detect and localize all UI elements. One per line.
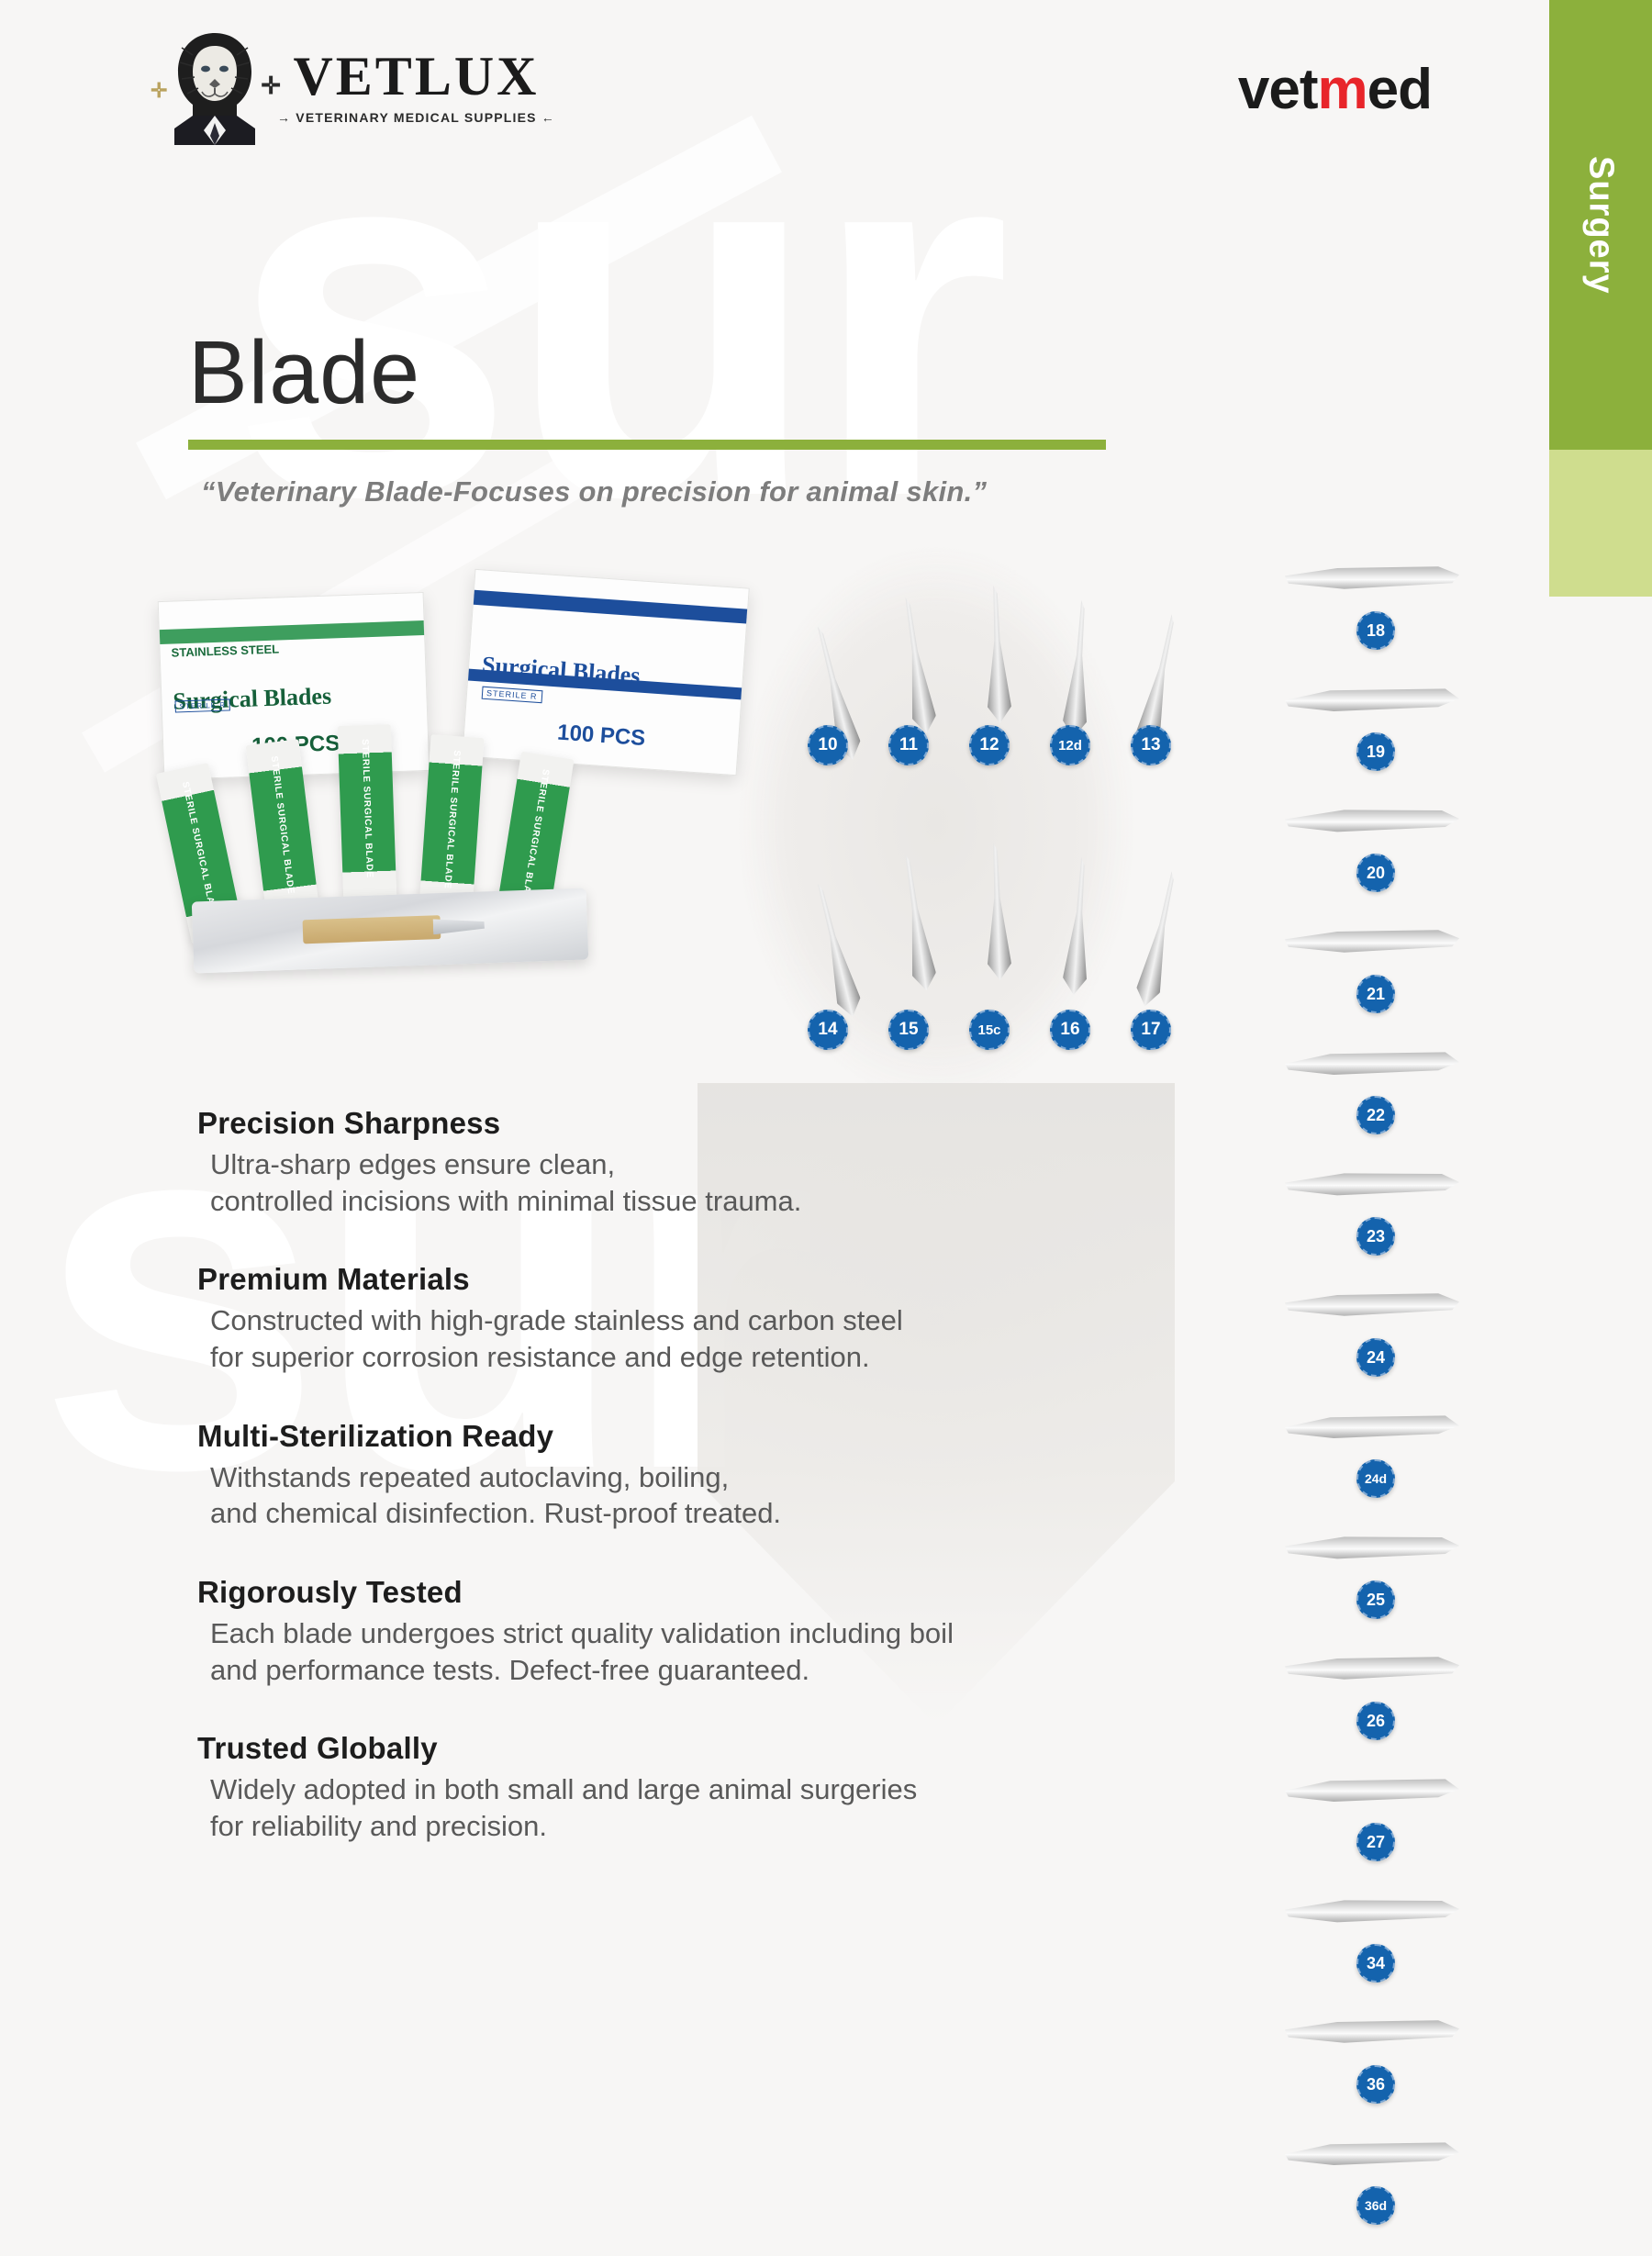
page-header: ✛ ✛: [0, 0, 1551, 193]
feature-line: for superior corrosion resistance and ed…: [210, 1339, 1280, 1376]
side-tab-label: Surgery: [1581, 156, 1621, 295]
blade-size-row: 34: [1285, 1893, 1487, 2014]
blade-size-row: 27: [1285, 1771, 1487, 1893]
page-title: Blade: [188, 326, 1106, 419]
vetmed-part-3: ed: [1367, 58, 1432, 121]
sachet-label: STERILE SURGICAL BLADE: [269, 755, 296, 895]
blade-illustration: [1285, 2019, 1459, 2047]
blade-size-badge-12[interactable]: 12: [969, 725, 1010, 765]
blade-illustration: [1285, 1535, 1459, 1562]
blade-size-badge-26[interactable]: 26: [1356, 1702, 1395, 1740]
blade-size-badge-20[interactable]: 20: [1356, 854, 1395, 892]
blade-grid: 10111212d13 141515c1617: [808, 569, 1267, 1083]
blade-size-badge-27[interactable]: 27: [1356, 1823, 1395, 1861]
sachet-label: STERILE SURGICAL BLADE: [360, 739, 374, 878]
blade-size-badge-13[interactable]: 13: [1131, 725, 1171, 765]
blade-size-badge-11[interactable]: 11: [888, 725, 929, 765]
vetmed-part-1: vet: [1238, 58, 1318, 121]
vetmed-part-2: m: [1318, 58, 1367, 121]
blade-size-badge-24d[interactable]: 24d: [1356, 1459, 1395, 1498]
feature-heading: Rigorously Tested: [197, 1575, 1280, 1610]
blade-size-row: 36d: [1285, 2135, 1487, 2256]
feature-item: Multi-Sterilization ReadyWithstands repe…: [197, 1419, 1280, 1532]
feature-line: Ultra-sharp edges ensure clean,: [210, 1146, 1280, 1183]
blade-illustration: [1285, 1777, 1459, 1804]
blade-illustration: [1285, 1413, 1459, 1441]
feature-item: Rigorously TestedEach blade undergoes st…: [197, 1575, 1280, 1688]
sachet-label: STERILE SURGICAL BLADE: [441, 750, 462, 889]
feature-line: for reliability and precision.: [210, 1808, 1280, 1845]
blade-illustration: [983, 586, 1011, 724]
feature-description: Ultra-sharp edges ensure clean,controlle…: [210, 1146, 1280, 1219]
feature-line: and chemical disinfection. Rust-proof tr…: [210, 1495, 1280, 1532]
blade-size-badge-23[interactable]: 23: [1356, 1217, 1395, 1256]
feature-description: Widely adopted in both small and large a…: [210, 1771, 1280, 1844]
feature-description: Withstands repeated autoclaving, boiling…: [210, 1459, 1280, 1532]
page-tagline: “Veterinary Blade-Focuses on precision f…: [201, 475, 1106, 508]
blade-size-row: 22: [1285, 1044, 1487, 1166]
blade-size-row: 25: [1285, 1529, 1487, 1650]
blade-size-badge-17[interactable]: 17: [1131, 1010, 1171, 1050]
blade-size-badge-12d[interactable]: 12d: [1050, 725, 1090, 765]
blade-illustration: [1285, 1656, 1459, 1683]
blade-size-row: 24d: [1285, 1408, 1487, 1529]
vetlux-wordmark: VETLUX: [293, 49, 539, 104]
vetlux-tagline: → VETERINARY MEDICAL SUPPLIES ←: [277, 110, 555, 125]
blade-illustration: [1285, 1898, 1459, 1926]
side-tab-accent: [1549, 450, 1652, 597]
blade-illustration: [1285, 687, 1459, 714]
title-block: Blade “Veterinary Blade-Focuses on preci…: [188, 326, 1106, 508]
blade-size-badge-19[interactable]: 19: [1356, 732, 1395, 771]
vetmed-logo[interactable]: vetmed: [1238, 57, 1432, 122]
blade-size-badge-16[interactable]: 16: [1050, 1010, 1090, 1050]
box-a-sterile-mark: STERILE R: [174, 698, 230, 712]
feature-description: Each blade undergoes strict quality vali…: [210, 1615, 1280, 1688]
feature-item: Precision SharpnessUltra-sharp edges ens…: [197, 1106, 1280, 1219]
blade-size-row: 19: [1285, 681, 1487, 802]
blade-in-pouch: [303, 915, 441, 944]
feature-item: Premium MaterialsConstructed with high-g…: [197, 1262, 1280, 1375]
blade-size-badge-36[interactable]: 36: [1356, 2065, 1395, 2104]
feature-heading: Premium Materials: [197, 1262, 1280, 1297]
blade-illustration: [1133, 869, 1186, 1009]
sachet-packet: STERILE SURGICAL BLADE: [338, 724, 397, 900]
feature-description: Constructed with high-grade stainless an…: [210, 1302, 1280, 1375]
blade-illustration: [1285, 1171, 1459, 1199]
feature-line: and performance tests. Defect-free guara…: [210, 1652, 1280, 1689]
blade-size-badge-34[interactable]: 34: [1356, 1944, 1395, 1982]
blade-size-badge-22[interactable]: 22: [1356, 1096, 1395, 1134]
feature-heading: Trusted Globally: [197, 1731, 1280, 1766]
blade-size-badge-14[interactable]: 14: [808, 1010, 848, 1050]
feature-line: Withstands repeated autoclaving, boiling…: [210, 1459, 1280, 1496]
blade-size-row: 24: [1285, 1287, 1487, 1408]
blade-size-badge-15[interactable]: 15: [888, 1010, 929, 1050]
blade-size-row: 23: [1285, 1166, 1487, 1287]
blade-illustration: [1285, 1292, 1459, 1320]
blade-size-column: 1819202122232424d252627343636d: [1285, 560, 1487, 2256]
product-box-blue: Surgical Blades STERILE R 100 PCS: [462, 569, 750, 776]
feature-line: Widely adopted in both small and large a…: [210, 1771, 1280, 1808]
blade-illustration: [1285, 2140, 1459, 2168]
sparkle-icon: ✛: [151, 79, 167, 103]
product-photo-cluster: STAINLESS STEEL Surgical Blades STERILE …: [161, 578, 803, 1055]
feature-heading: Precision Sharpness: [197, 1106, 1280, 1141]
sachet-label: STERILE SURGICAL BLADE: [519, 768, 551, 908]
blade-size-badge-10[interactable]: 10: [808, 725, 848, 765]
blade-illustration: [1285, 565, 1459, 593]
blade-size-row: 21: [1285, 923, 1487, 1044]
blade-size-row: 18: [1285, 560, 1487, 681]
blade-illustration: [896, 596, 939, 735]
feature-list: Precision SharpnessUltra-sharp edges ens…: [197, 1106, 1280, 1888]
blade-size-badge-36d[interactable]: 36d: [1356, 2186, 1395, 2225]
feature-line: Constructed with high-grade stainless an…: [210, 1302, 1280, 1339]
feature-line: Each blade undergoes strict quality vali…: [210, 1615, 1280, 1652]
blade-illustration: [1285, 929, 1459, 956]
blade-size-badge-15c[interactable]: 15c: [969, 1010, 1010, 1050]
feature-heading: Multi-Sterilization Ready: [197, 1419, 1280, 1454]
blade-size-badge-25[interactable]: 25: [1356, 1580, 1395, 1619]
box-b-sterile-mark: STERILE R: [482, 687, 542, 704]
side-tab-surgery[interactable]: Surgery: [1549, 0, 1652, 450]
blade-size-badge-24[interactable]: 24: [1356, 1338, 1395, 1377]
blade-illustration: [1062, 599, 1095, 738]
blade-illustration: [983, 843, 1011, 981]
blade-size-row: 20: [1285, 802, 1487, 923]
blade-illustration: [1285, 1050, 1459, 1078]
lion-icon: ✛ ✛: [165, 28, 264, 145]
title-underline: [188, 440, 1106, 450]
sparkle-icon: ✛: [261, 72, 281, 100]
blade-illustration: [808, 880, 865, 1020]
foil-pouch-with-blade: [192, 888, 588, 974]
feature-item: Trusted GloballyWidely adopted in both s…: [197, 1731, 1280, 1844]
blade-illustration: [896, 853, 939, 992]
blade-size-row: 36: [1285, 2014, 1487, 2135]
blade-illustration: [1062, 856, 1095, 995]
blade-size-badge-18[interactable]: 18: [1356, 611, 1395, 650]
vetlux-logo[interactable]: ✛ ✛: [165, 28, 555, 145]
box-a-top-label: STAINLESS STEEL: [171, 642, 279, 660]
sachet-packet: STERILE SURGICAL BLADE: [419, 734, 484, 912]
blade-size-badge-21[interactable]: 21: [1356, 975, 1395, 1013]
blade-size-row: 26: [1285, 1650, 1487, 1771]
blade-illustration: [1285, 808, 1459, 835]
sachet-label: STERILE SURGICAL BLADE: [180, 781, 218, 920]
feature-line: controlled incisions with minimal tissue…: [210, 1183, 1280, 1220]
box-b-count: 100 PCS: [556, 720, 646, 753]
